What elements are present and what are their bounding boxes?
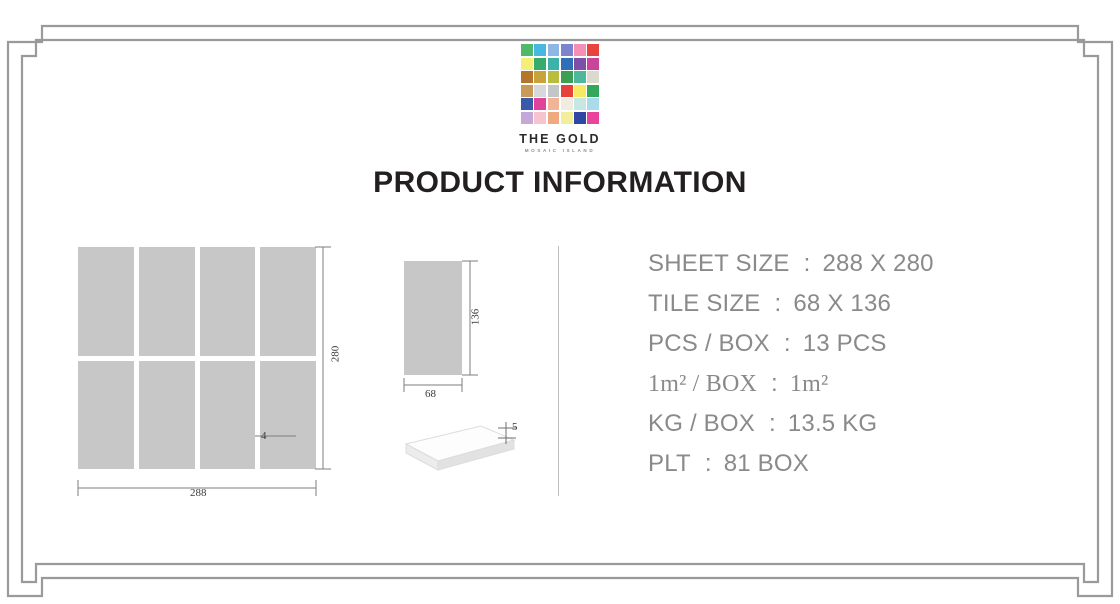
logo-swatch bbox=[521, 58, 533, 70]
spec-row-kg-per-box: KG / BOX : 13.5 KG bbox=[648, 410, 1068, 450]
spec-label: PCS / BOX bbox=[648, 330, 770, 358]
logo-swatch bbox=[534, 112, 546, 124]
spec-value: 13 PCS bbox=[803, 330, 887, 358]
logo-swatch bbox=[587, 85, 599, 97]
mosaic-sheet-diagram bbox=[78, 247, 316, 469]
logo-swatch bbox=[561, 58, 573, 70]
spec-label: KG / BOX bbox=[648, 410, 755, 438]
logo-swatch bbox=[521, 112, 533, 124]
logo-swatch bbox=[548, 98, 560, 110]
tile-width-label: 68 bbox=[425, 388, 436, 400]
spec-colon: : bbox=[769, 410, 776, 438]
logo-swatch bbox=[548, 44, 560, 56]
logo-tagline: MOSAIC ISLAND bbox=[497, 149, 623, 154]
logo-swatch bbox=[521, 98, 533, 110]
logo-swatch bbox=[534, 44, 546, 56]
sheet-tile bbox=[78, 361, 134, 470]
logo-swatch bbox=[561, 98, 573, 110]
section-divider bbox=[558, 246, 559, 496]
single-tile-diagram bbox=[404, 261, 462, 375]
brand-logo: THE GOLD MOSAIC ISLAND bbox=[497, 44, 623, 153]
spec-colon: : bbox=[784, 330, 791, 358]
logo-swatch bbox=[587, 58, 599, 70]
logo-swatch bbox=[548, 85, 560, 97]
logo-mosaic-grid bbox=[521, 44, 599, 124]
logo-swatch bbox=[574, 71, 586, 83]
logo-swatch bbox=[574, 112, 586, 124]
logo-swatch bbox=[561, 71, 573, 83]
logo-swatch bbox=[574, 98, 586, 110]
tile-3d-diagram bbox=[374, 414, 524, 484]
sheet-width-label: 288 bbox=[190, 487, 207, 499]
spec-value: 1m² bbox=[790, 371, 828, 398]
spec-label: TILE SIZE bbox=[648, 290, 761, 318]
sheet-height-label: 280 bbox=[329, 346, 341, 363]
logo-swatch bbox=[574, 58, 586, 70]
logo-swatch bbox=[587, 98, 599, 110]
logo-swatch bbox=[534, 71, 546, 83]
logo-swatch bbox=[587, 44, 599, 56]
logo-swatch bbox=[534, 98, 546, 110]
logo-swatch bbox=[548, 58, 560, 70]
spec-colon: : bbox=[771, 370, 778, 398]
logo-swatch bbox=[521, 71, 533, 83]
sheet-tile bbox=[139, 247, 195, 356]
sheet-joint-label: 4 bbox=[261, 430, 267, 442]
tile-thickness-label: 5 bbox=[512, 421, 518, 433]
spec-colon: : bbox=[775, 290, 782, 318]
logo-swatch bbox=[587, 71, 599, 83]
spec-label: SHEET SIZE bbox=[648, 250, 790, 278]
spec-value: 68 X 136 bbox=[793, 290, 891, 318]
spec-label: PLT bbox=[648, 450, 691, 478]
tile-height-label: 136 bbox=[469, 309, 481, 326]
thickness-dimension-lines bbox=[494, 414, 544, 464]
logo-swatch bbox=[587, 112, 599, 124]
spec-label: 1m² / BOX bbox=[648, 371, 757, 398]
logo-swatch bbox=[534, 58, 546, 70]
spec-colon: : bbox=[705, 450, 712, 478]
logo-swatch bbox=[561, 85, 573, 97]
logo-swatch bbox=[561, 44, 573, 56]
specification-list: SHEET SIZE : 288 X 280 TILE SIZE : 68 X … bbox=[648, 250, 1068, 490]
sheet-tile bbox=[260, 361, 316, 470]
product-information-sheet: THE GOLD MOSAIC ISLAND PRODUCT INFORMATI… bbox=[0, 0, 1120, 604]
logo-swatch bbox=[548, 112, 560, 124]
logo-swatch bbox=[521, 85, 533, 97]
spec-row-plt: PLT : 81 BOX bbox=[648, 450, 1068, 490]
spec-value: 288 X 280 bbox=[822, 250, 933, 278]
spec-colon: : bbox=[804, 250, 811, 278]
logo-wordmark: THE GOLD bbox=[497, 133, 623, 146]
spec-row-sheet-size: SHEET SIZE : 288 X 280 bbox=[648, 250, 1068, 290]
spec-value: 13.5 KG bbox=[788, 410, 877, 438]
sheet-tile bbox=[139, 361, 195, 470]
logo-swatch bbox=[574, 85, 586, 97]
spec-row-sqm-per-box: 1m² / BOX : 1m² bbox=[648, 370, 1068, 410]
sheet-tile bbox=[78, 247, 134, 356]
logo-swatch bbox=[534, 85, 546, 97]
sheet-tile bbox=[200, 361, 256, 470]
logo-swatch bbox=[561, 112, 573, 124]
sheet-tile bbox=[200, 247, 256, 356]
spec-row-pcs-per-box: PCS / BOX : 13 PCS bbox=[648, 330, 1068, 370]
logo-swatch bbox=[574, 44, 586, 56]
spec-value: 81 BOX bbox=[724, 450, 809, 478]
logo-swatch bbox=[521, 44, 533, 56]
sheet-tile bbox=[260, 247, 316, 356]
spec-row-tile-size: TILE SIZE : 68 X 136 bbox=[648, 290, 1068, 330]
page-title: PRODUCT INFORMATION bbox=[0, 166, 1120, 200]
logo-swatch bbox=[548, 71, 560, 83]
